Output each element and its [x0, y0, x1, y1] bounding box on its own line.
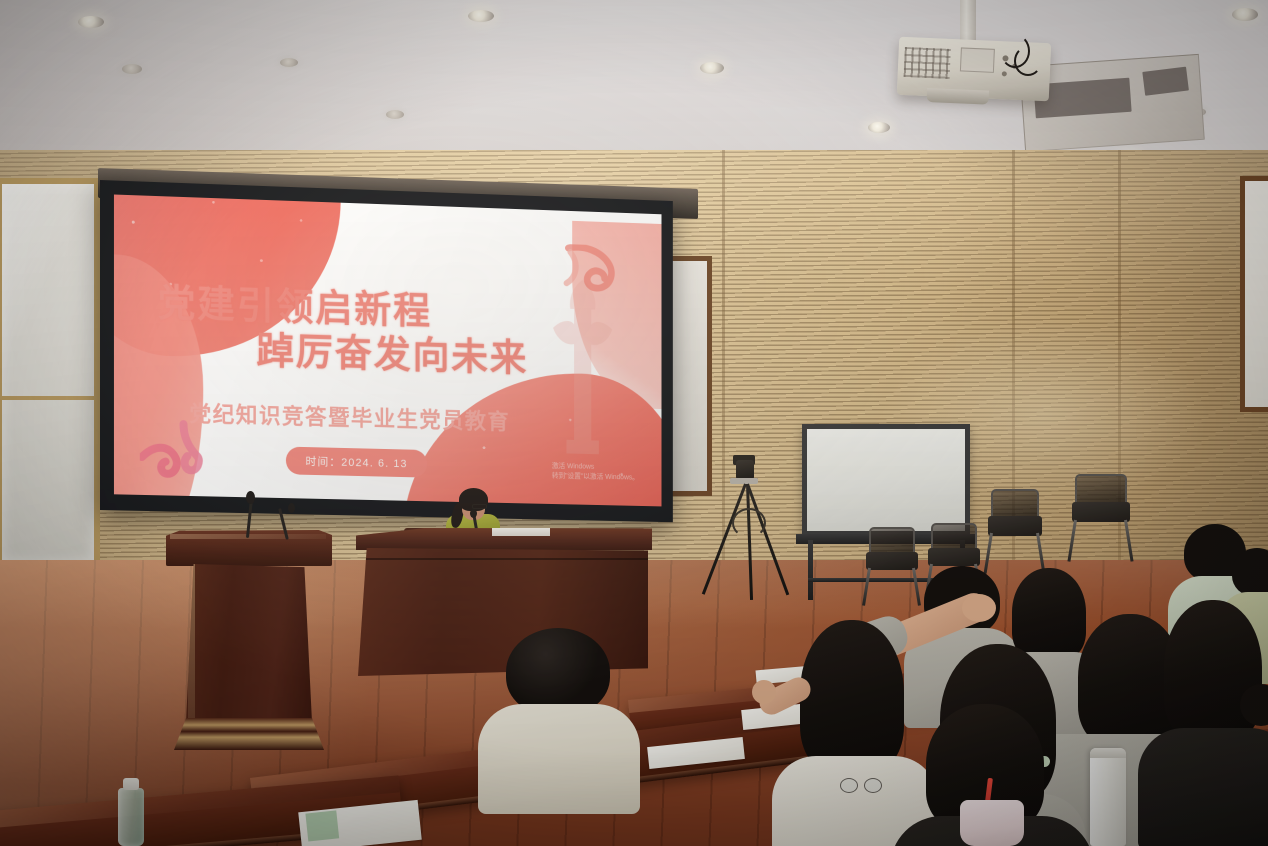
- drink-cup: [960, 800, 1024, 846]
- folding-chair-1: [866, 552, 918, 606]
- projection-screen-bezel: 党建引领启新程 踔厉奋发向未来 党纪知识竞答暨毕业生党员教育 时间：2024. …: [100, 180, 673, 522]
- windows-activation-watermark: 激活 Windows 转到"设置"以激活 Windows。: [552, 462, 639, 482]
- whiteboard: [802, 424, 970, 536]
- downlight-8: [1232, 8, 1258, 21]
- hand-left-student: [752, 680, 776, 704]
- downlight-7: [868, 122, 890, 133]
- slide-title: 党建引领启新程 踔厉奋发向未来: [158, 282, 624, 384]
- tripod-head: [736, 460, 754, 480]
- slide-shape-bottom-right: [403, 369, 662, 507]
- slide-title-line2: 踔厉奋发向未来: [158, 327, 624, 385]
- student-ponytail-right: [1148, 600, 1268, 846]
- downlight-5: [280, 58, 298, 67]
- table-microphone-head: [470, 509, 477, 518]
- hair: [506, 628, 610, 716]
- glasses-lens-right: [864, 778, 882, 793]
- projector-knob-3: [1002, 71, 1007, 76]
- frosted-glass-panel-left: [0, 178, 100, 568]
- hair: [800, 620, 904, 772]
- podium-microphone-head-2: [288, 503, 295, 513]
- slide-date-badge: 时间：2024. 6. 13: [286, 447, 427, 478]
- podium-body: [186, 564, 312, 722]
- podium-base: [174, 718, 324, 750]
- chair-back: [1075, 474, 1126, 504]
- water-bottle: [118, 788, 144, 846]
- projector-panel: [960, 47, 995, 72]
- projector-grille: [904, 47, 951, 79]
- tripod-cable: [732, 508, 766, 538]
- chair-back: [991, 489, 1039, 518]
- white-thermos: [1090, 748, 1126, 846]
- wall-panel-far-right: [1240, 176, 1268, 412]
- torso: [478, 704, 640, 814]
- downlight-3: [122, 64, 142, 74]
- vent-slot-2: [1142, 67, 1189, 96]
- ribbon-flourish-top-right: [559, 244, 626, 297]
- chair-legs: [866, 568, 918, 606]
- chair-legs: [1072, 520, 1130, 562]
- downlight-4: [700, 62, 724, 74]
- downlight-1: [78, 16, 104, 28]
- projector-lens: [927, 88, 990, 105]
- glasses-lens-left: [840, 778, 858, 793]
- whiteboard-leg-left: [808, 540, 813, 600]
- hand: [962, 594, 996, 622]
- torso: [1138, 728, 1268, 846]
- downlight-2: [468, 10, 494, 22]
- podium-microphone-head-1: [246, 491, 255, 504]
- folding-chair-4: [1072, 502, 1130, 562]
- chair-back: [869, 527, 915, 554]
- chair-back: [931, 523, 977, 550]
- student-long-hair-left: [790, 620, 920, 846]
- downlight-6: [386, 110, 404, 119]
- projection-screen: 党建引领启新程 踔厉奋发向未来 党纪知识竞答暨毕业生党员教育 时间：2024. …: [114, 195, 662, 507]
- student-boy-front-left: [506, 628, 666, 846]
- conference-room-photo: 党建引领启新程 踔厉奋发向未来 党纪知识竞答暨毕业生党员教育 时间：2024. …: [0, 0, 1268, 846]
- glass-sheen: [2, 184, 94, 562]
- eyeglasses-on-desk: [840, 778, 884, 794]
- hair: [1232, 548, 1268, 596]
- projector-cable-2: [1014, 46, 1042, 76]
- head-table-paper: [492, 528, 550, 536]
- slide-title-line1: 党建引领启新程: [158, 283, 432, 333]
- podium: [166, 530, 332, 750]
